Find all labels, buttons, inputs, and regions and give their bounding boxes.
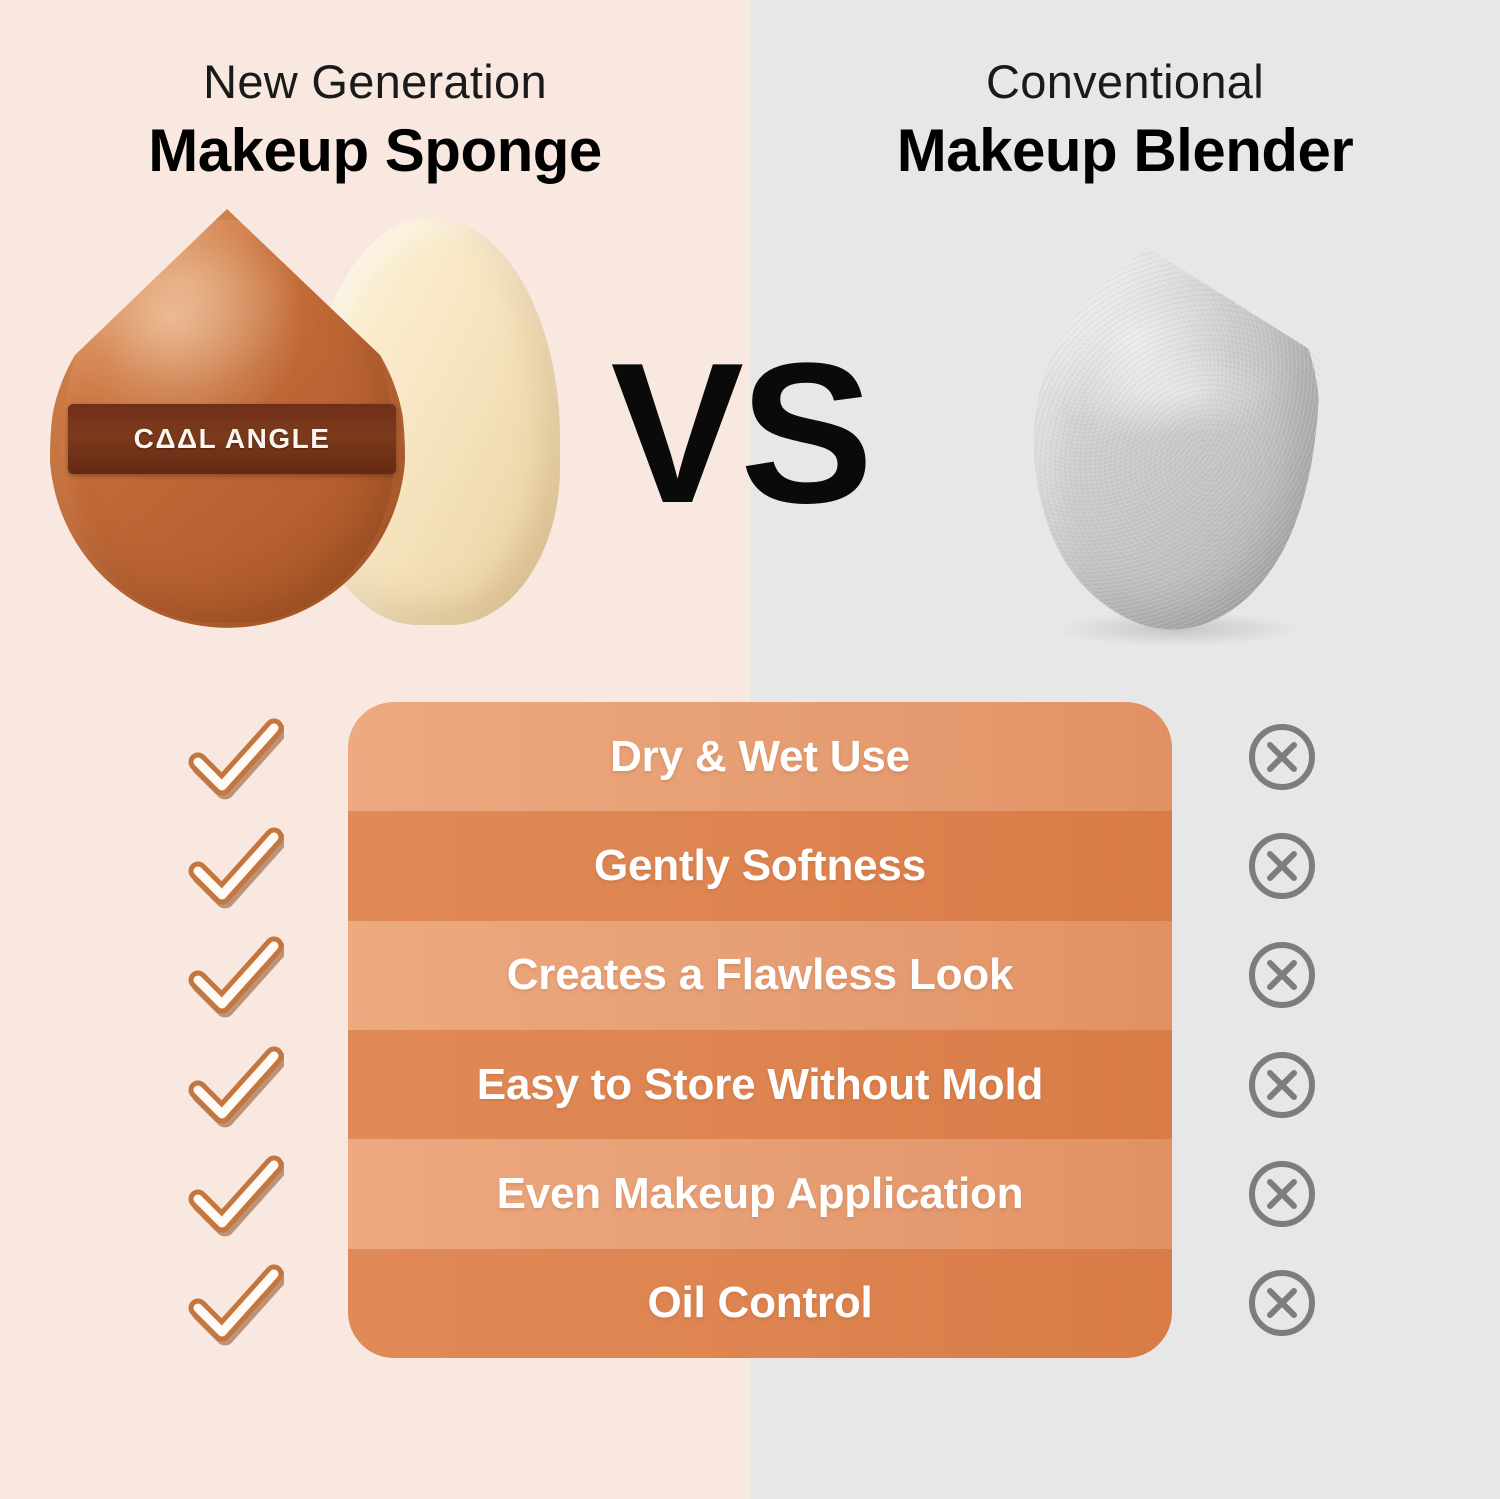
right-kicker: Conventional <box>750 56 1500 108</box>
brand-band: CΔΔL ANGLE <box>68 404 396 474</box>
cross-mark-cell <box>1222 1249 1342 1358</box>
comparison-infographic: New Generation Makeup Sponge Conventiona… <box>0 0 1500 1499</box>
feature-label: Easy to Store Without Mold <box>477 1060 1043 1110</box>
check-icon <box>188 714 284 800</box>
cross-mark-cell <box>1222 811 1342 920</box>
brand-label: CΔΔL ANGLE <box>134 423 331 455</box>
feature-label: Even Makeup Application <box>497 1169 1024 1219</box>
makeup-sponge-product-image: CΔΔL ANGLE <box>40 205 600 675</box>
feature-row: Easy to Store Without Mold <box>348 1030 1172 1139</box>
cross-marks-column <box>1222 702 1342 1358</box>
feature-row: Oil Control <box>348 1249 1172 1358</box>
circle-x-icon <box>1246 1158 1318 1230</box>
check-icon <box>188 932 284 1018</box>
circle-x-icon <box>1246 1049 1318 1121</box>
cross-mark-cell <box>1222 702 1342 811</box>
check-mark-cell <box>176 921 296 1030</box>
check-mark-cell <box>176 1249 296 1358</box>
check-mark-cell <box>176 1030 296 1139</box>
cross-mark-cell <box>1222 1030 1342 1139</box>
left-column-heading: New Generation Makeup Sponge <box>0 56 750 186</box>
cross-mark-cell <box>1222 1139 1342 1248</box>
check-icon <box>188 1042 284 1128</box>
right-headline: Makeup Blender <box>750 116 1500 187</box>
left-headline: Makeup Sponge <box>0 116 750 187</box>
check-mark-cell <box>176 811 296 920</box>
feature-row: Dry & Wet Use <box>348 702 1172 811</box>
versus-label: VS <box>590 334 890 534</box>
check-icon <box>188 1151 284 1237</box>
circle-x-icon <box>1246 830 1318 902</box>
check-icon <box>188 823 284 909</box>
feature-label: Dry & Wet Use <box>610 732 910 782</box>
feature-row: Creates a Flawless Look <box>348 921 1172 1030</box>
check-mark-cell <box>176 1139 296 1248</box>
feature-row: Even Makeup Application <box>348 1139 1172 1248</box>
right-column-heading: Conventional Makeup Blender <box>750 56 1500 186</box>
feature-comparison-card: Dry & Wet UseGently SoftnessCreates a Fl… <box>348 702 1172 1358</box>
check-marks-column <box>176 702 296 1358</box>
check-mark-cell <box>176 702 296 811</box>
circle-x-icon <box>1246 1267 1318 1339</box>
check-icon <box>188 1260 284 1346</box>
cross-mark-cell <box>1222 921 1342 1030</box>
feature-label: Creates a Flawless Look <box>507 950 1014 1000</box>
left-kicker: New Generation <box>0 56 750 108</box>
feature-label: Oil Control <box>647 1278 872 1328</box>
feature-row: Gently Softness <box>348 811 1172 920</box>
feature-label: Gently Softness <box>594 841 926 891</box>
circle-x-icon <box>1246 939 1318 1011</box>
circle-x-icon <box>1246 721 1318 793</box>
